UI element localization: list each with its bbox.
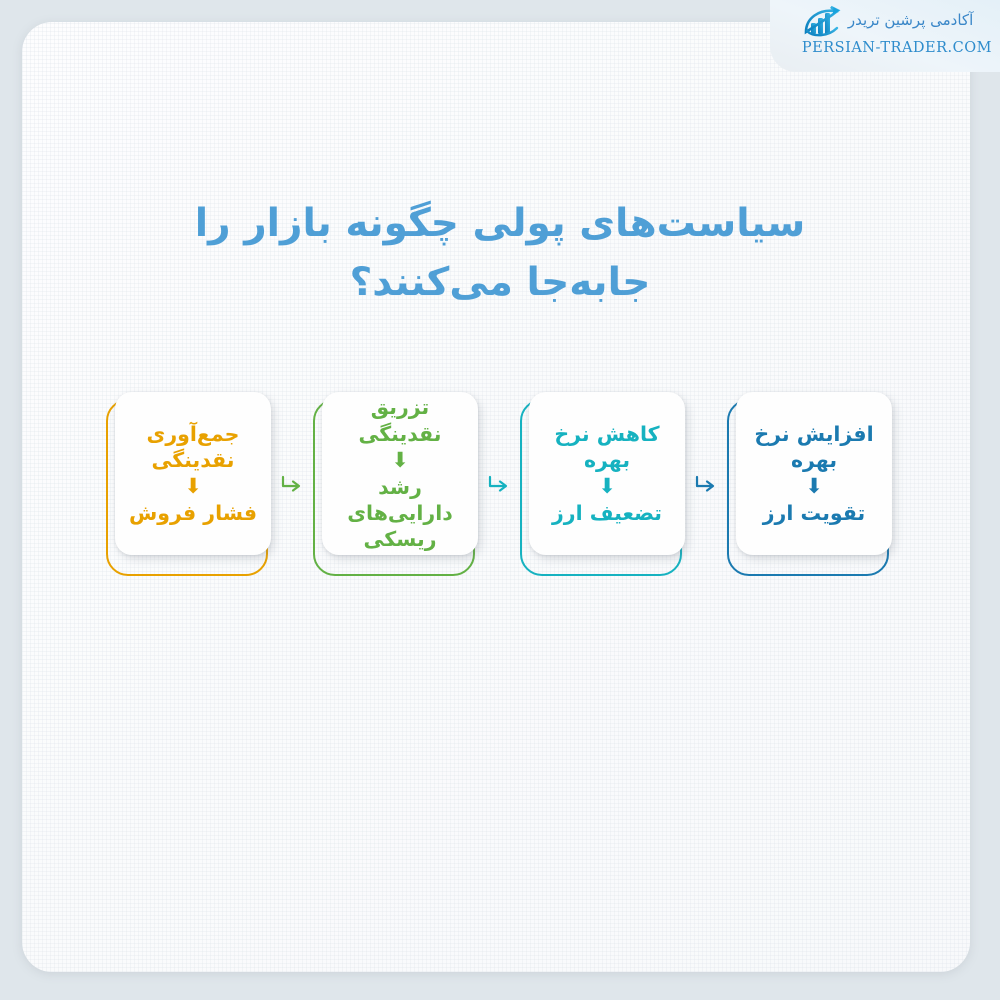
step-cause: افزایش نرخ — [744, 421, 884, 447]
flow-step-rate-cut[interactable]: کاهش نرخ بهره ⬇ تضعیف ارز — [511, 392, 696, 580]
flow-step-liquidity-injection[interactable]: تزریق نقدینگی ⬇ رشد دارایی‌های ریسکی — [304, 392, 489, 580]
step-cause-line2: بهره — [744, 447, 884, 473]
step-effect: فشار فروش — [123, 500, 263, 526]
down-arrow-icon: ⬇ — [184, 476, 202, 497]
flow-diagram: افزایش نرخ بهره ⬇ تقویت ارز کاهش نرخ بهر… — [0, 392, 1000, 592]
step-cause: جمع‌آوری — [123, 421, 263, 447]
arrow-right-icon — [282, 471, 304, 501]
brand-logo[interactable]: آکادمی پرشین تریدر — [802, 4, 992, 56]
page-title-line-2: جابه‌جا می‌کنند؟ — [150, 253, 850, 312]
step-cause-line2: نقدینگی — [123, 447, 263, 473]
brand-logo-row: آکادمی پرشین تریدر — [802, 4, 973, 38]
flow-step-liquidity-drain[interactable]: جمع‌آوری نقدینگی ⬇ فشار فروش — [97, 392, 282, 580]
step-cause: تزریق نقدینگی — [330, 394, 470, 446]
connector-3 — [282, 392, 304, 580]
step-effect: رشد دارایی‌های ریسکی — [330, 474, 470, 553]
step-card[interactable]: جمع‌آوری نقدینگی ⬇ فشار فروش — [115, 392, 271, 555]
page-title-line-1: سیاست‌های پولی چگونه بازار را — [150, 194, 850, 253]
flow-step-rate-hike[interactable]: افزایش نرخ بهره ⬇ تقویت ارز — [718, 392, 903, 580]
brand-domain: PERSIAN-TRADER.COM — [802, 41, 992, 56]
down-arrow-icon: ⬇ — [391, 450, 409, 471]
step-card[interactable]: کاهش نرخ بهره ⬇ تضعیف ارز — [529, 392, 685, 555]
brand-name-fa: آکادمی پرشین تریدر — [848, 13, 973, 30]
step-card[interactable]: افزایش نرخ بهره ⬇ تقویت ارز — [736, 392, 892, 555]
step-effect: تضعیف ارز — [537, 500, 677, 526]
step-cause-line2: بهره — [537, 447, 677, 473]
step-cause: کاهش نرخ — [537, 421, 677, 447]
arrow-right-icon — [489, 471, 511, 501]
connector-1 — [696, 392, 718, 580]
step-card[interactable]: تزریق نقدینگی ⬇ رشد دارایی‌های ریسکی — [322, 392, 478, 555]
page-title: سیاست‌های پولی چگونه بازار را جابه‌جا می… — [0, 194, 1000, 313]
down-arrow-icon: ⬇ — [598, 476, 616, 497]
connector-2 — [489, 392, 511, 580]
step-effect: تقویت ارز — [744, 500, 884, 526]
bar-chart-arrow-icon — [802, 4, 842, 38]
arrow-right-icon — [696, 471, 718, 501]
down-arrow-icon: ⬇ — [805, 476, 823, 497]
infographic-canvas: آکادمی پرشین تریدر — [0, 0, 1000, 1000]
